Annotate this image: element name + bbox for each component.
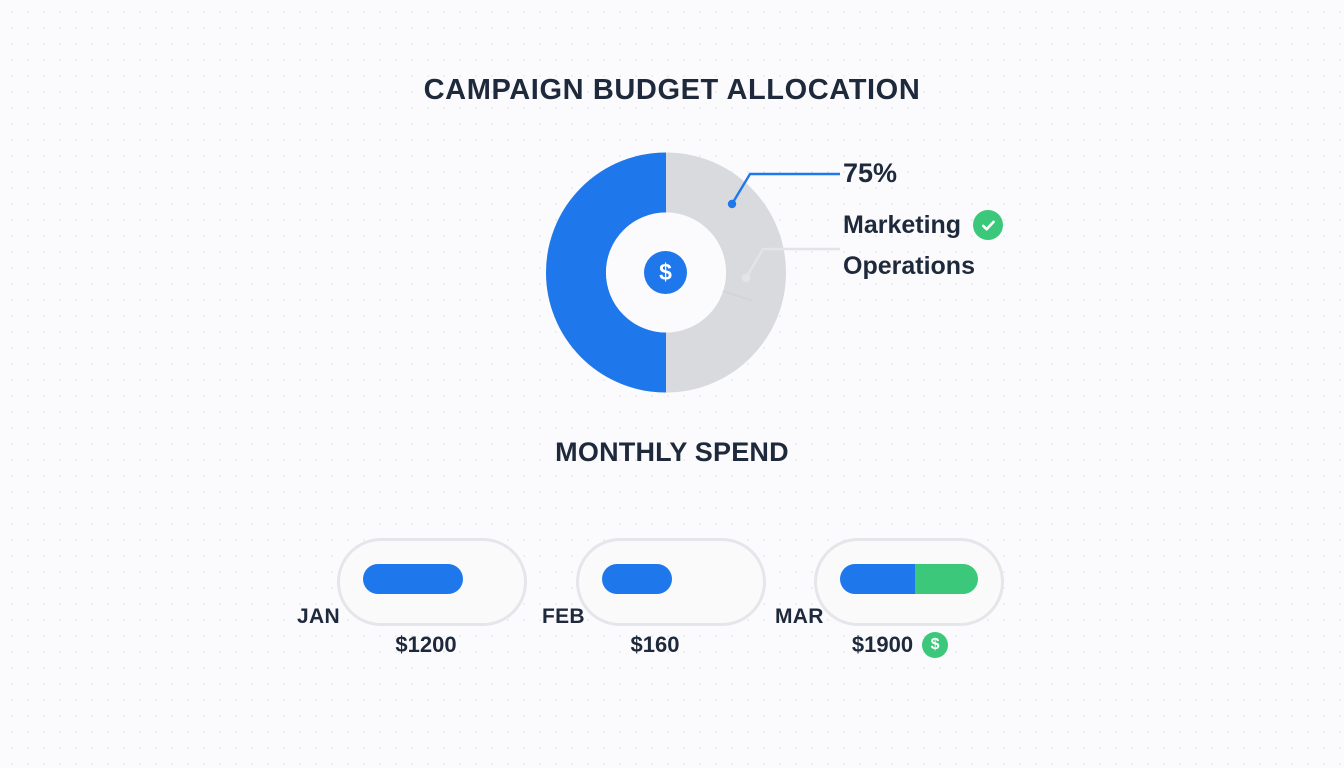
spend-value-mar: $1900 $ — [805, 632, 995, 658]
pill-segment-green — [915, 564, 978, 594]
dollar-glyph: $ — [931, 637, 940, 653]
value-text: $160 — [631, 632, 680, 658]
callout-leader-lines — [700, 150, 860, 310]
legend-label-marketing: Marketing — [843, 211, 961, 240]
spend-pill-mar[interactable] — [814, 538, 1004, 626]
pill-fill — [602, 564, 672, 594]
leader-line-operations — [746, 249, 840, 278]
spend-pill-feb[interactable] — [576, 538, 766, 626]
legend-item-operations[interactable]: Operations — [843, 252, 975, 281]
spend-value-jan: $1200 — [331, 632, 521, 658]
pill-fill — [363, 564, 463, 594]
donut-percent-callout: 75% — [843, 158, 897, 189]
spend-pill-jan[interactable] — [337, 538, 527, 626]
value-text: $1200 — [395, 632, 456, 658]
legend-label-operations: Operations — [843, 252, 975, 281]
pill-segment-blue — [363, 564, 463, 594]
month-label-feb: FEB — [542, 605, 585, 629]
month-label-jan: JAN — [297, 605, 340, 629]
dollar-icon: $ — [644, 251, 687, 294]
pill-segment-blue — [602, 564, 672, 594]
dollar-icon: $ — [922, 632, 948, 658]
pill-fill — [840, 564, 978, 594]
legend-item-marketing[interactable]: Marketing — [843, 210, 1003, 240]
leader-dot-marketing — [728, 200, 736, 208]
dollar-glyph: $ — [659, 261, 672, 284]
leader-line-marketing — [732, 174, 840, 204]
section-title-monthly-spend: MONTHLY SPEND — [0, 437, 1344, 468]
check-icon — [973, 210, 1003, 240]
leader-dot-operations — [742, 274, 750, 282]
value-text: $1900 — [852, 632, 913, 658]
pill-segment-blue — [840, 564, 915, 594]
page-title: CAMPAIGN BUDGET ALLOCATION — [0, 74, 1344, 107]
month-label-mar: MAR — [775, 605, 824, 629]
spend-value-feb: $160 — [560, 632, 750, 658]
